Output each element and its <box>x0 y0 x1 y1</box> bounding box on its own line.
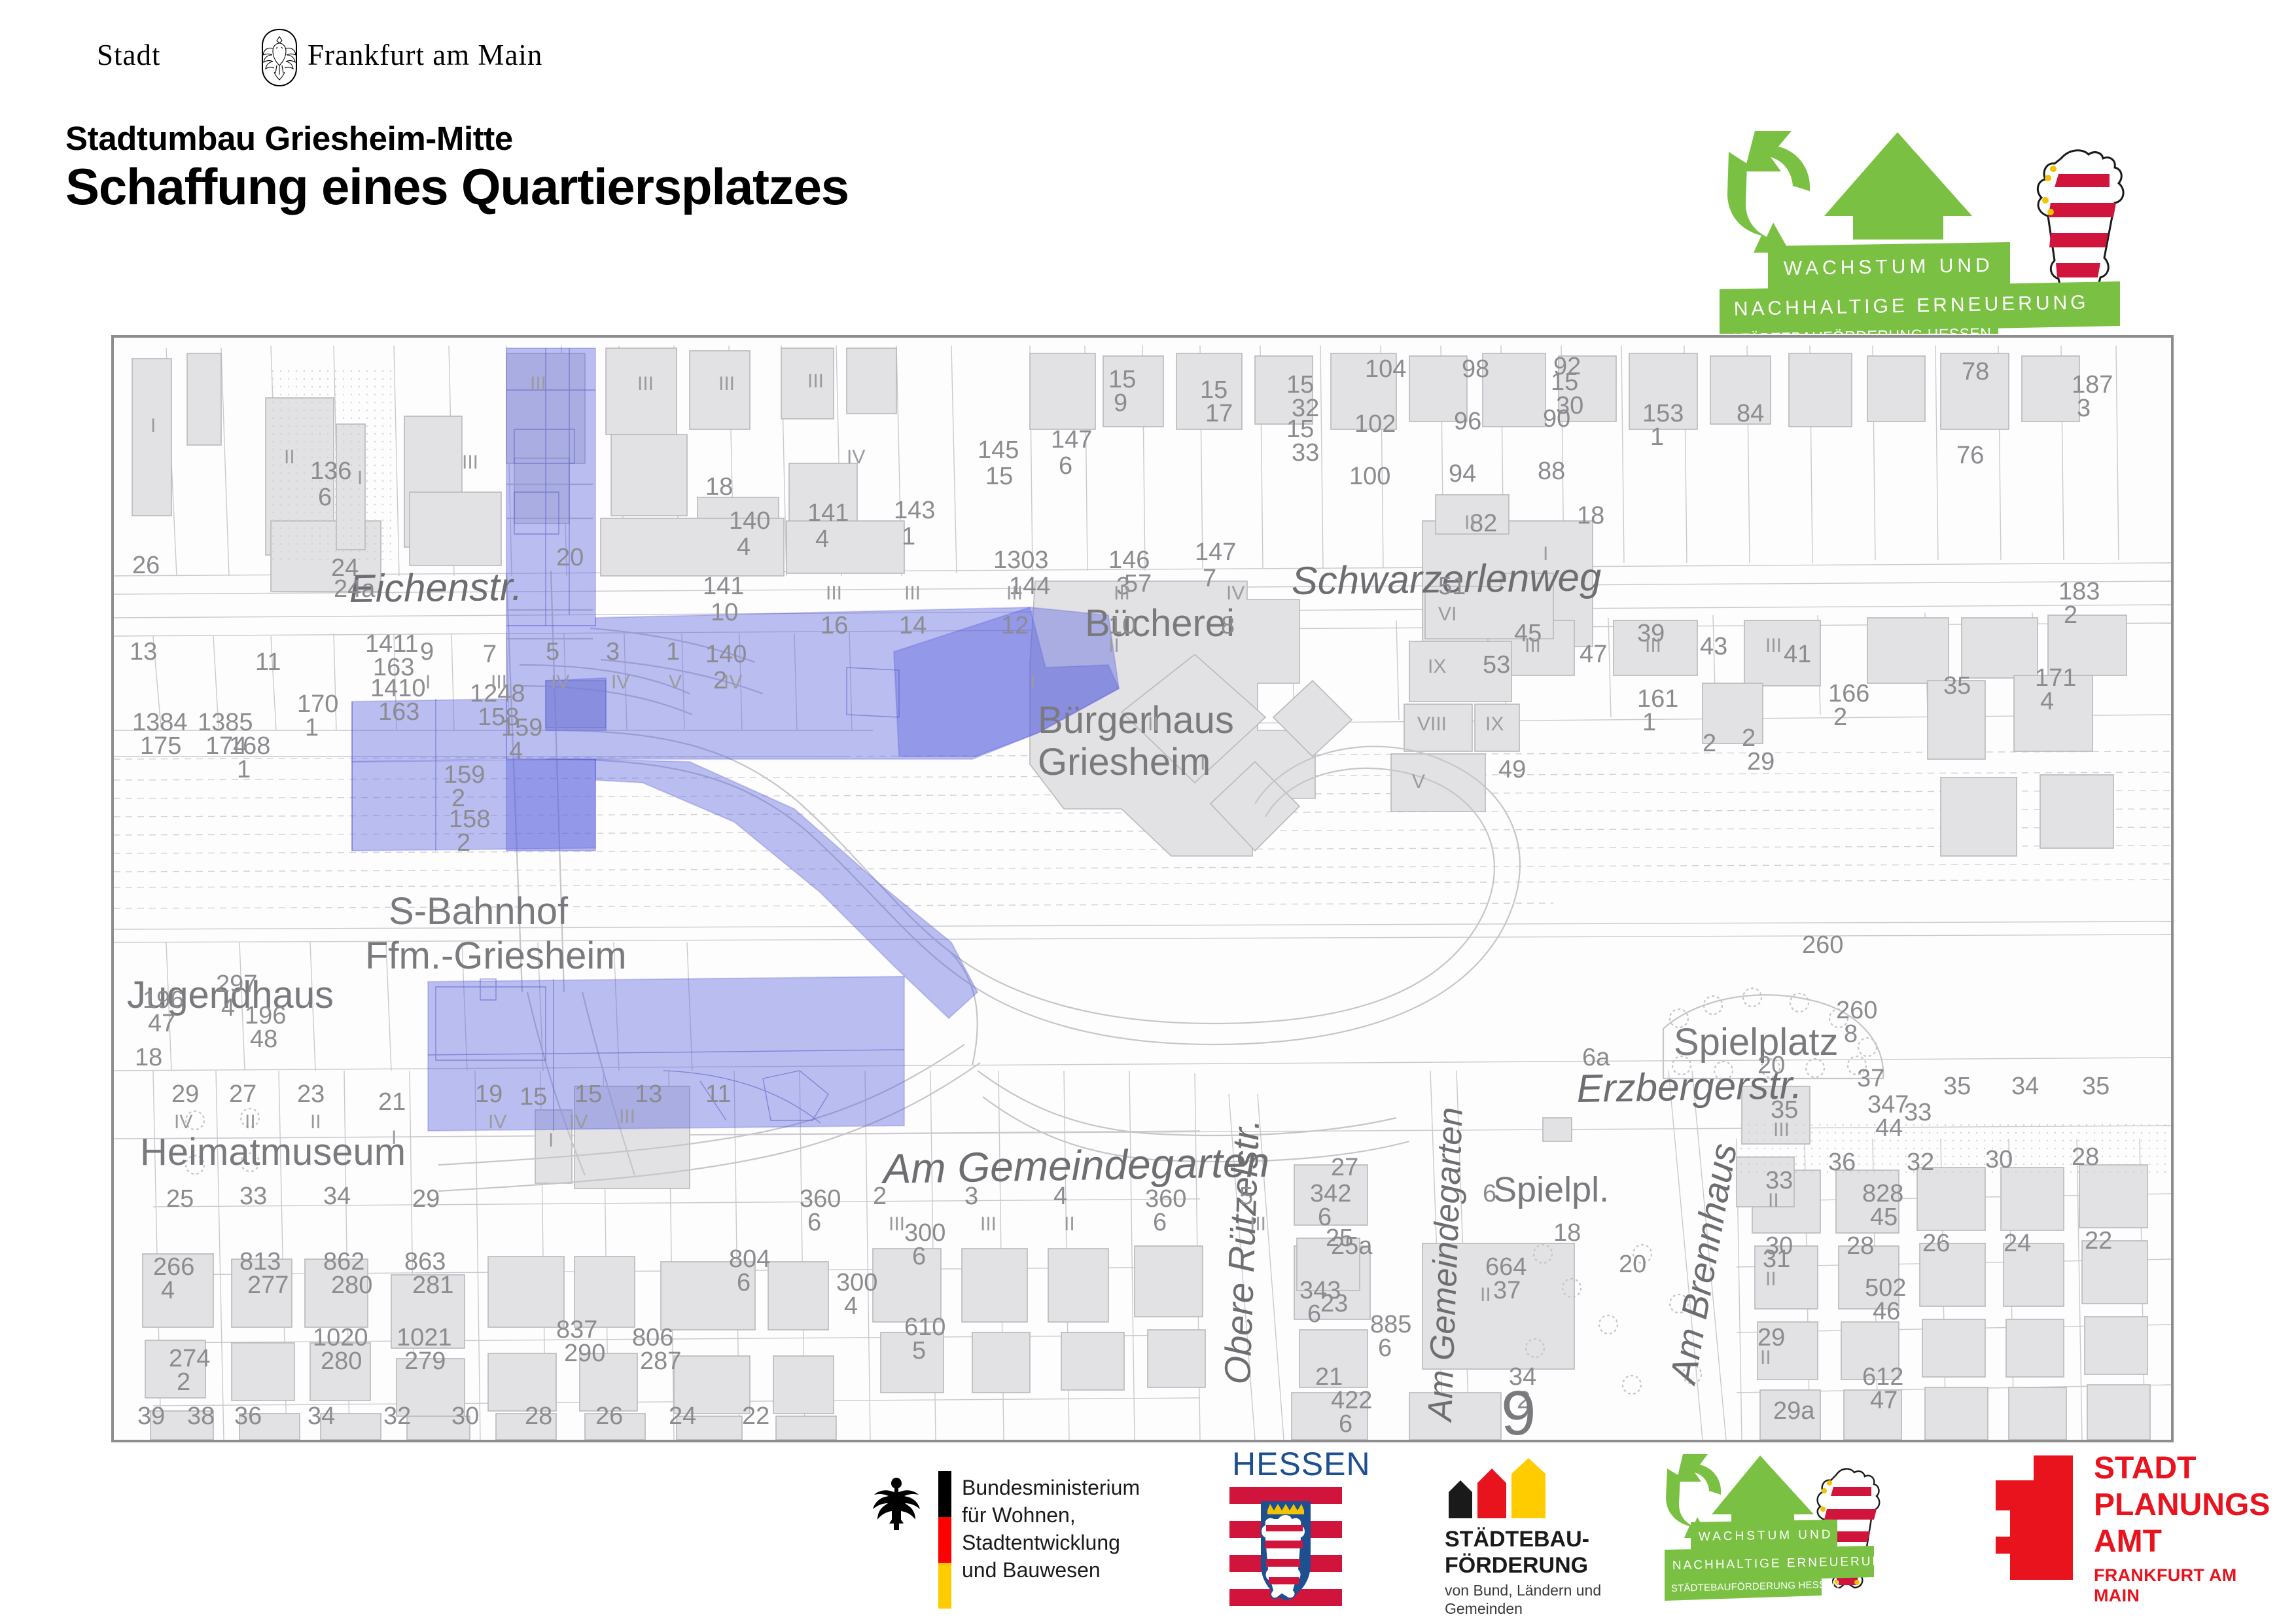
svg-text:2: 2 <box>177 1368 190 1396</box>
spa-line2: PLANUNGS <box>2094 1487 2270 1524</box>
svg-text:10: 10 <box>711 599 738 626</box>
svg-text:23: 23 <box>297 1080 325 1108</box>
svg-text:1: 1 <box>305 714 319 741</box>
svg-text:IV: IV <box>724 671 742 693</box>
svg-text:3: 3 <box>2077 395 2091 422</box>
svg-text:7: 7 <box>1203 565 1216 592</box>
svg-text:28: 28 <box>2072 1143 2099 1171</box>
svg-text:13: 13 <box>635 1080 662 1108</box>
svg-text:51: 51 <box>1438 573 1466 600</box>
hessen-state-logo: HESSEN <box>1227 1446 1358 1616</box>
svg-text:36: 36 <box>1828 1149 1856 1176</box>
svg-text:II: II <box>284 446 295 468</box>
svg-text:290: 290 <box>564 1340 605 1367</box>
staedtebau-subtext: von Bund, Ländern und Gemeinden <box>1445 1581 1601 1618</box>
svg-text:V: V <box>1412 771 1425 793</box>
svg-text:24: 24 <box>2004 1230 2031 1257</box>
svg-text:12: 12 <box>1001 612 1029 639</box>
svg-text:III: III <box>1250 1213 1266 1235</box>
svg-text:35: 35 <box>2082 1073 2110 1100</box>
svg-text:IV: IV <box>551 671 569 693</box>
svg-text:20: 20 <box>1619 1251 1646 1278</box>
svg-text:33: 33 <box>239 1183 267 1210</box>
svg-text:1: 1 <box>1650 423 1664 451</box>
program-logo-line1: WACHSTUM UND <box>1784 255 1994 279</box>
flag-black-stripe <box>938 1471 951 1517</box>
bmwsb-wordmark: Bundesministerium für Wohnen, Stadtentwi… <box>962 1474 1197 1584</box>
svg-text:II: II <box>1760 1347 1771 1368</box>
svg-text:I: I <box>391 1127 397 1149</box>
svg-text:20: 20 <box>1757 1052 1785 1079</box>
svg-text:47: 47 <box>148 1010 175 1037</box>
svg-text:III: III <box>1773 1119 1790 1141</box>
poi-s-bahnhof: S-Bahnhof <box>389 890 569 933</box>
svg-text:104: 104 <box>1365 355 1406 383</box>
recycle-arrow-icon <box>1727 131 1810 253</box>
svg-text:1303: 1303 <box>993 546 1049 574</box>
bmwsb-line3: und Bauwesen <box>962 1556 1197 1584</box>
svg-text:279: 279 <box>404 1347 446 1375</box>
svg-text:281: 281 <box>412 1272 453 1299</box>
svg-text:4: 4 <box>221 994 235 1022</box>
spa-line3: AMT <box>2094 1524 2270 1560</box>
svg-text:14: 14 <box>899 612 927 639</box>
cadastral-map[interactable]: Eichenstr. Schwarzerlenweg Am Gemeindega… <box>111 335 2174 1442</box>
svg-text:2: 2 <box>457 829 470 857</box>
svg-text:1: 1 <box>666 638 680 666</box>
svg-text:I: I <box>1030 671 1035 693</box>
svg-text:4: 4 <box>815 526 829 553</box>
svg-text:102: 102 <box>1354 410 1396 438</box>
svg-text:1: 1 <box>902 523 915 550</box>
svg-text:84: 84 <box>1737 400 1764 427</box>
spa-subline: FRANKFURT AM MAIN <box>2094 1565 2270 1606</box>
svg-text:15: 15 <box>574 1080 602 1108</box>
svg-text:47: 47 <box>1580 641 1607 668</box>
svg-text:38: 38 <box>187 1402 215 1430</box>
svg-text:23: 23 <box>1320 1290 1348 1317</box>
svg-text:13: 13 <box>130 638 157 666</box>
svg-text:II: II <box>1464 512 1475 533</box>
svg-text:11: 11 <box>705 1080 731 1108</box>
svg-text:140: 140 <box>729 507 770 535</box>
svg-text:30: 30 <box>1985 1146 2013 1173</box>
svg-text:36: 36 <box>234 1402 262 1430</box>
svg-text:III: III <box>530 373 546 395</box>
svg-text:III: III <box>718 373 735 395</box>
svg-text:VIII: VIII <box>1417 713 1447 735</box>
frankfurt-eagle-icon <box>256 27 303 88</box>
svg-text:27: 27 <box>1331 1154 1358 1181</box>
svg-text:34: 34 <box>2011 1073 2039 1100</box>
poi-heimatmuseum: Heimatmuseum <box>140 1131 406 1173</box>
svg-text:III: III <box>980 1213 997 1235</box>
svg-text:4: 4 <box>1053 1183 1067 1210</box>
svg-text:I: I <box>150 415 156 437</box>
svg-text:45: 45 <box>1870 1204 1898 1231</box>
staedtebau-line1: STÄDTEBAU- <box>1445 1526 1589 1552</box>
svg-text:35: 35 <box>1943 672 1971 700</box>
poi-ffm-griesheim: Ffm.-Griesheim <box>365 935 627 977</box>
svg-text:16: 16 <box>821 612 848 639</box>
svg-text:37: 37 <box>1857 1065 1884 1092</box>
svg-text:I: I <box>548 1130 554 1151</box>
poi-spielpl: Spielpl. <box>1493 1170 1609 1209</box>
stadtplanungsamt-wordmark: STADT PLANUNGS AMT <box>2094 1450 2270 1560</box>
svg-text:I: I <box>1543 543 1548 565</box>
svg-text:1: 1 <box>237 756 251 783</box>
svg-text:98: 98 <box>1462 355 1489 383</box>
svg-text:53: 53 <box>1483 651 1510 679</box>
svg-text:4: 4 <box>161 1277 175 1304</box>
svg-text:4: 4 <box>737 533 751 561</box>
svg-text:287: 287 <box>640 1347 681 1375</box>
svg-text:II: II <box>1148 713 1159 735</box>
svg-text:15: 15 <box>985 463 1013 490</box>
svg-text:136: 136 <box>310 457 351 485</box>
svg-text:5: 5 <box>546 638 559 666</box>
svg-text:41: 41 <box>1784 641 1811 668</box>
svg-text:96: 96 <box>1454 408 1481 435</box>
svg-text:III: III <box>491 671 507 693</box>
svg-text:29: 29 <box>171 1080 199 1108</box>
svg-text:35: 35 <box>1943 1073 1971 1100</box>
svg-text:III: III <box>807 370 824 392</box>
svg-text:IV: IV <box>1226 582 1245 604</box>
svg-text:24a: 24a <box>334 575 376 603</box>
svg-text:94: 94 <box>1449 460 1476 488</box>
flag-red-stripe <box>938 1517 951 1563</box>
poster-title: Schaffung eines Quartiersplatzes <box>65 157 849 217</box>
svg-text:27: 27 <box>229 1080 256 1108</box>
svg-text:III: III <box>637 373 654 395</box>
svg-text:6: 6 <box>1153 1209 1167 1236</box>
flag-gold-stripe <box>938 1563 951 1609</box>
svg-text:IX: IX <box>1485 713 1504 735</box>
svg-text:5: 5 <box>1239 1183 1253 1210</box>
poster-footer: Bundesministerium für Wohnen, Stadtentwi… <box>0 1446 2296 1623</box>
three-houses-icon <box>1445 1458 1559 1518</box>
svg-text:100: 100 <box>1349 463 1390 490</box>
svg-text:21: 21 <box>378 1088 406 1116</box>
map-canvas[interactable]: Eichenstr. Schwarzerlenweg Am Gemeindega… <box>114 338 2171 1440</box>
svg-text:6: 6 <box>912 1243 926 1270</box>
german-flag-bar <box>938 1471 951 1609</box>
poi-buergerhaus: Bürgerhaus <box>1038 699 1234 741</box>
wune-footer-line1: WACHSTUM UND <box>1699 1527 1833 1544</box>
bundesadler-icon <box>870 1472 923 1535</box>
svg-text:V: V <box>669 671 682 693</box>
svg-text:2: 2 <box>1833 704 1847 731</box>
svg-text:18: 18 <box>1577 502 1604 529</box>
svg-text:147: 147 <box>1051 426 1092 454</box>
svg-text:25: 25 <box>1326 1224 1353 1252</box>
svg-text:34: 34 <box>308 1402 335 1430</box>
svg-text:163: 163 <box>373 654 414 681</box>
svg-text:I: I <box>425 671 431 693</box>
svg-text:IX: IX <box>1428 656 1446 677</box>
svg-text:17: 17 <box>1205 400 1233 427</box>
staedtebau-sub1: von Bund, Ländern und <box>1445 1581 1601 1599</box>
svg-text:III: III <box>1525 635 1541 656</box>
svg-text:IV: IV <box>847 446 865 468</box>
svg-text:43: 43 <box>1700 633 1727 660</box>
svg-text:4: 4 <box>2040 688 2054 715</box>
svg-text:141: 141 <box>703 573 744 600</box>
svg-text:46: 46 <box>1873 1298 1900 1325</box>
svg-text:25: 25 <box>166 1185 194 1213</box>
hessen-shield-icon <box>1229 1487 1342 1608</box>
svg-text:8: 8 <box>1844 1020 1858 1048</box>
spa-line1: STADT <box>2094 1450 2270 1487</box>
svg-text:1: 1 <box>1642 709 1656 736</box>
svg-text:III: III <box>1765 635 1782 656</box>
svg-text:15: 15 <box>520 1083 547 1111</box>
svg-text:4: 4 <box>844 1293 858 1320</box>
svg-text:I: I <box>1200 753 1205 774</box>
svg-text:8: 8 <box>1221 612 1235 639</box>
svg-text:33: 33 <box>1904 1099 1932 1126</box>
svg-text:280: 280 <box>321 1347 362 1375</box>
svg-text:6: 6 <box>1339 1410 1352 1438</box>
svg-text:34: 34 <box>323 1183 351 1210</box>
svg-text:47: 47 <box>1870 1387 1898 1414</box>
svg-text:II: II <box>1108 635 1120 656</box>
svg-text:141: 141 <box>807 499 849 527</box>
svg-text:2: 2 <box>1703 730 1716 757</box>
svg-text:24: 24 <box>669 1402 696 1430</box>
svg-text:22: 22 <box>2085 1227 2112 1255</box>
svg-text:22: 22 <box>742 1402 769 1430</box>
svg-text:4: 4 <box>509 738 523 765</box>
svg-text:147: 147 <box>1195 539 1236 566</box>
svg-text:IV: IV <box>569 1111 588 1133</box>
map-marker-9: 9 <box>1501 1378 1536 1440</box>
svg-text:26: 26 <box>132 552 160 579</box>
svg-text:39: 39 <box>137 1402 165 1430</box>
svg-text:145: 145 <box>978 437 1019 464</box>
svg-text:163: 163 <box>378 698 419 726</box>
svg-text:30: 30 <box>1556 392 1583 419</box>
svg-text:30: 30 <box>1765 1232 1793 1260</box>
svg-text:6: 6 <box>1059 452 1072 480</box>
svg-text:20: 20 <box>556 544 584 571</box>
svg-text:III: III <box>1114 582 1130 604</box>
poi-griesheim: Griesheim <box>1038 741 1210 783</box>
svg-text:143: 143 <box>894 497 935 524</box>
svg-text:30: 30 <box>451 1402 479 1430</box>
svg-text:III: III <box>889 1213 905 1235</box>
svg-text:44: 44 <box>1875 1115 1903 1142</box>
svg-text:48: 48 <box>250 1026 277 1053</box>
staedtebau-sub2: Gemeinden <box>1445 1599 1601 1618</box>
svg-text:IV: IV <box>174 1111 192 1133</box>
svg-text:6: 6 <box>1307 1300 1321 1328</box>
staedtebau-line2: FÖRDERUNG <box>1445 1552 1589 1578</box>
svg-text:6: 6 <box>807 1209 821 1236</box>
svg-text:VI: VI <box>1438 603 1457 625</box>
hessen-wordmark: HESSEN <box>1232 1445 1371 1483</box>
svg-text:76: 76 <box>1956 442 1984 469</box>
poi-spielplatz: Spielplatz <box>1674 1021 1838 1063</box>
svg-text:18: 18 <box>135 1044 162 1071</box>
svg-text:11: 11 <box>255 649 281 676</box>
svg-text:29a: 29a <box>1773 1397 1815 1425</box>
svg-text:78: 78 <box>1962 358 1989 385</box>
program-logo-footer: WACHSTUM UND NACHHALTIGE ERNEUERUNG STÄD… <box>1662 1446 1943 1616</box>
svg-text:II: II <box>1768 1190 1779 1211</box>
svg-text:III: III <box>619 1106 635 1128</box>
svg-text:28: 28 <box>525 1402 552 1430</box>
svg-text:III: III <box>904 582 921 604</box>
poster-subtitle: Stadtumbau Griesheim-Mitte <box>65 119 513 158</box>
svg-text:140: 140 <box>705 641 747 668</box>
staedtebaufoerderung-logo: STÄDTEBAU- FÖRDERUNG von Bund, Ländern u… <box>1439 1446 1655 1616</box>
svg-text:19: 19 <box>475 1080 503 1108</box>
svg-text:29: 29 <box>412 1185 440 1213</box>
svg-text:3: 3 <box>964 1183 978 1210</box>
svg-text:7: 7 <box>483 641 497 668</box>
bmwsb-line2: für Wohnen, Stadtentwicklung <box>962 1501 1197 1556</box>
svg-text:3: 3 <box>606 638 620 666</box>
svg-text:9: 9 <box>420 638 434 666</box>
svg-text:I: I <box>357 467 362 489</box>
svg-text:18: 18 <box>1553 1219 1581 1247</box>
program-logo-top: WACHSTUM UND NACHHALTIGE ERNEUERUNG STÄD… <box>1708 118 2205 334</box>
svg-text:III: III <box>462 452 478 473</box>
bmwsb-line1: Bundesministerium <box>962 1474 1197 1501</box>
city-of-frankfurt-logo: Stadt Frankfurt am Main <box>97 34 516 79</box>
svg-text:III: III <box>1006 582 1023 604</box>
svg-text:33: 33 <box>1292 439 1319 467</box>
svg-text:28: 28 <box>1846 1232 1874 1260</box>
stadtplanungsamt-logo: STADT PLANUNGS AMT FRANKFURT AM MAIN <box>1996 1446 2270 1616</box>
svg-text:49: 49 <box>1498 756 1526 783</box>
svg-text:6a: 6a <box>1582 1044 1610 1071</box>
svg-text:32: 32 <box>1907 1149 1934 1176</box>
svg-text:277: 277 <box>247 1272 289 1299</box>
stadtplanungsamt-mark-icon <box>1996 1455 2073 1580</box>
svg-text:II: II <box>1480 1284 1491 1306</box>
poster-header: Stadt Frankfurt am Main Stadtumbau Gries… <box>0 0 2296 327</box>
svg-text:II: II <box>1765 1268 1776 1290</box>
svg-text:II: II <box>1064 1213 1075 1235</box>
city-logo-frankfurt: Frankfurt am Main <box>308 38 542 72</box>
bmwsb-logo: Bundesministerium für Wohnen, Stadtentwi… <box>870 1446 1197 1616</box>
svg-text:6: 6 <box>1378 1334 1392 1362</box>
svg-text:2: 2 <box>873 1183 887 1210</box>
city-logo-stadt: Stadt <box>97 38 161 72</box>
green-house-arrow-icon <box>1824 132 1972 240</box>
svg-text:280: 280 <box>331 1272 372 1299</box>
svg-text:175: 175 <box>140 732 181 760</box>
svg-text:9: 9 <box>1114 389 1127 417</box>
svg-text:5: 5 <box>912 1337 926 1364</box>
svg-text:29: 29 <box>1747 748 1775 776</box>
svg-text:II: II <box>245 1111 256 1133</box>
svg-text:IV: IV <box>611 671 629 693</box>
poi-buecherei: Bücherei <box>1085 602 1235 645</box>
svg-text:III: III <box>826 582 842 604</box>
svg-text:32: 32 <box>383 1402 411 1430</box>
svg-text:6: 6 <box>1483 1180 1496 1207</box>
svg-text:II: II <box>310 1111 321 1133</box>
svg-text:6: 6 <box>737 1269 751 1296</box>
svg-text:2: 2 <box>2064 601 2077 629</box>
svg-text:6: 6 <box>318 484 332 511</box>
staedtebau-wordmark: STÄDTEBAU- FÖRDERUNG <box>1445 1526 1589 1578</box>
svg-text:26: 26 <box>595 1402 623 1430</box>
svg-text:18: 18 <box>705 473 733 501</box>
svg-text:37: 37 <box>1493 1277 1521 1304</box>
svg-text:26: 26 <box>1922 1230 1950 1257</box>
street-label-am-gemeindegarten: Am Gemeindegarten <box>880 1139 1270 1192</box>
svg-text:IV: IV <box>488 1111 506 1133</box>
svg-text:88: 88 <box>1538 457 1565 485</box>
svg-text:260: 260 <box>1802 931 1843 959</box>
svg-text:III: III <box>1645 635 1661 656</box>
